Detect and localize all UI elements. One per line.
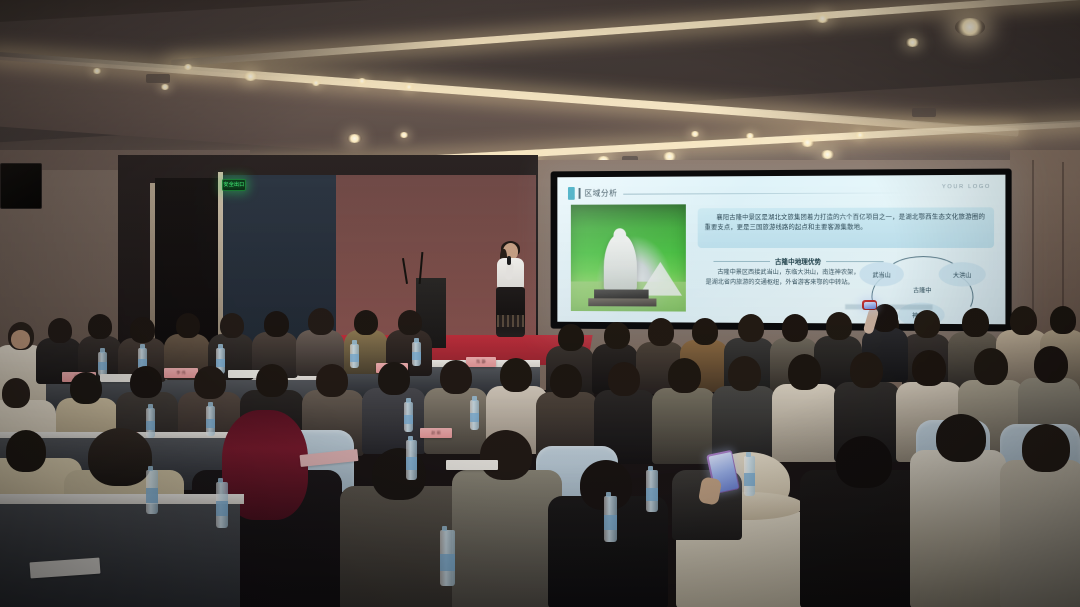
diagram-node-center: 古隆中	[900, 282, 945, 296]
audience-head	[48, 318, 72, 343]
bottle-label	[146, 421, 155, 431]
microphone-icon	[507, 256, 511, 265]
downlight-icon	[183, 64, 193, 70]
phone-screen	[864, 302, 876, 309]
water-bottle	[216, 482, 228, 528]
downlight-icon	[815, 14, 830, 23]
exit-sign: 安全出口	[222, 179, 246, 191]
name-card: 赵 丽	[420, 428, 452, 438]
statue-plinth	[588, 298, 656, 306]
table-cloth	[0, 494, 244, 504]
slide-photo-statue	[571, 204, 686, 311]
audience-head	[608, 362, 640, 396]
water-bottle	[470, 400, 479, 430]
audience-head	[826, 312, 852, 340]
table-skirt-foreground	[0, 500, 240, 607]
audience-head	[936, 414, 986, 462]
audience-person	[652, 388, 716, 464]
bottle-label	[146, 488, 158, 502]
audience-head	[550, 364, 582, 398]
downlight-icon	[311, 80, 321, 86]
presenter-skirt	[496, 287, 525, 337]
presenter	[489, 243, 531, 343]
audience-head	[130, 366, 162, 398]
downlight-icon	[855, 132, 865, 138]
audience-head	[604, 322, 630, 349]
phone-recording[interactable]	[862, 300, 877, 310]
name-card-label: 李 伟	[164, 368, 198, 378]
wall-monitor	[0, 163, 42, 209]
audience-head	[692, 318, 718, 345]
paper-document	[446, 460, 498, 470]
audience-head	[1010, 306, 1037, 335]
audience-head	[648, 318, 674, 346]
bottle-label	[470, 413, 479, 423]
exit-sign-label: 安全出口	[223, 183, 244, 188]
water-bottle	[146, 470, 158, 514]
audience-head	[70, 372, 102, 404]
slide-title-row: 区域分析	[568, 187, 617, 200]
audience-head	[378, 362, 410, 395]
audience-head	[728, 356, 761, 391]
downlight-icon	[745, 133, 755, 139]
downlight-icon	[92, 68, 102, 74]
audience-head	[372, 448, 426, 500]
foreground-person	[1000, 460, 1080, 607]
water-bottle	[98, 352, 107, 376]
water-bottle	[206, 406, 215, 436]
bottle-label	[604, 515, 617, 530]
downlight-icon	[955, 18, 985, 36]
audience-head	[1050, 306, 1076, 334]
bottle-label	[216, 501, 228, 516]
audience-head	[2, 378, 30, 408]
water-bottle	[350, 344, 359, 368]
audience-head	[88, 314, 112, 339]
slide-section-heading: 古隆中地理优势	[775, 256, 821, 266]
name-card-label: 陈 静	[466, 357, 496, 367]
name-card: 李 伟	[164, 368, 198, 378]
audience-head	[1022, 424, 1070, 472]
diagram-node-left: 武当山	[859, 262, 904, 286]
audience-head	[308, 308, 334, 335]
audience-head	[500, 358, 532, 392]
bottle-label	[206, 419, 215, 429]
audience-head	[194, 366, 226, 399]
audience-head	[440, 360, 472, 394]
water-bottle	[604, 496, 617, 542]
water-bottle	[412, 342, 421, 366]
downlight-icon	[800, 138, 815, 147]
downlight-icon	[404, 84, 414, 90]
audience-head	[354, 310, 378, 335]
audience-head	[782, 314, 808, 342]
title-underline	[623, 192, 907, 194]
title-tick	[579, 188, 581, 199]
audience-head	[6, 430, 46, 472]
presenter-skirt-pattern	[497, 315, 524, 327]
downlight-icon	[357, 78, 367, 84]
audience-head	[558, 324, 584, 351]
audience-head	[256, 364, 288, 397]
title-accent-bar	[568, 187, 575, 200]
downlight-icon	[347, 134, 362, 143]
audience-head	[668, 358, 701, 393]
audience-head	[914, 310, 940, 338]
heading-rule-left	[713, 260, 769, 261]
bottle-label	[412, 352, 421, 360]
water-bottle	[146, 408, 155, 438]
audience-head	[836, 436, 892, 488]
downlight-icon	[690, 131, 700, 137]
slide-section-body: 古隆中景区西接武当山，东临大洪山，南连神农架，是湖北省内旅游的交通枢纽，外省游客…	[706, 268, 862, 288]
audience-head	[912, 350, 946, 386]
audience-head	[1034, 346, 1068, 383]
audience-head	[850, 352, 883, 388]
statue-head	[614, 228, 627, 242]
audience-person	[772, 384, 838, 462]
statue-figure	[604, 234, 637, 291]
audience-head	[480, 430, 532, 480]
bottle-label	[440, 554, 455, 572]
name-card: 陈 静	[466, 357, 496, 367]
audience-head	[974, 348, 1008, 385]
downlight-icon	[160, 84, 170, 90]
downlight-icon	[820, 150, 835, 159]
audience-head	[788, 354, 821, 390]
ceiling-vent	[912, 108, 936, 117]
name-card-label: 赵 丽	[420, 428, 452, 438]
water-bottle	[440, 530, 455, 586]
bottle-label	[216, 359, 225, 367]
audience-head	[176, 313, 200, 338]
downlight-icon	[905, 38, 920, 47]
bottle-label	[406, 457, 417, 470]
water-bottle	[646, 470, 658, 512]
audience-head	[398, 310, 422, 335]
water-bottle	[406, 440, 417, 480]
audience-head-beanie	[88, 428, 152, 486]
slide-surface: 区域分析 YOUR LOGO 襄阳古隆中景区是湖北文旅集团着力打造的六个百亿项目…	[557, 175, 1005, 325]
slide-section-heading-row: 古隆中地理优势	[713, 256, 883, 266]
slide-callout-box: 襄阳古隆中景区是湖北文旅集团着力打造的六个百亿项目之一，是湖北鄂西生态文化旅游圈…	[698, 207, 994, 248]
conference-hall-photo: 安全出口 区域分析 YOUR LOGO 襄阳古隆中景区是湖北文旅集团着力打造的六	[0, 0, 1080, 607]
audience-face	[11, 330, 30, 349]
audience-head	[130, 317, 155, 343]
foreground-person	[452, 470, 562, 607]
water-bottle	[404, 402, 413, 432]
slide-logo-placeholder: YOUR LOGO	[942, 184, 991, 190]
downlight-icon	[399, 132, 409, 138]
slide-title: 区域分析	[584, 188, 617, 199]
water-bottle	[744, 456, 755, 496]
bottle-label	[404, 415, 413, 425]
ceiling-vent	[146, 74, 170, 83]
bottle-label	[350, 354, 359, 362]
diagram-node-right: 大洪山	[939, 262, 986, 286]
audience-head	[264, 311, 289, 337]
bottle-label	[744, 473, 755, 486]
audience-head	[220, 313, 244, 338]
downlight-icon	[243, 72, 258, 81]
slide-callout-text: 襄阳古隆中景区是湖北文旅集团着力打造的六个百亿项目之一，是湖北鄂西生态文化旅游圈…	[698, 207, 994, 232]
audience-head	[738, 314, 764, 342]
projection-screen[interactable]: 区域分析 YOUR LOGO 襄阳古隆中景区是湖北文旅集团着力打造的六个百亿项目…	[551, 169, 1012, 332]
audience-head	[962, 308, 989, 337]
foreground-person-puffer	[910, 450, 1006, 607]
bottle-label	[646, 488, 658, 501]
bottle-label	[98, 362, 107, 370]
audience-head	[316, 364, 348, 397]
